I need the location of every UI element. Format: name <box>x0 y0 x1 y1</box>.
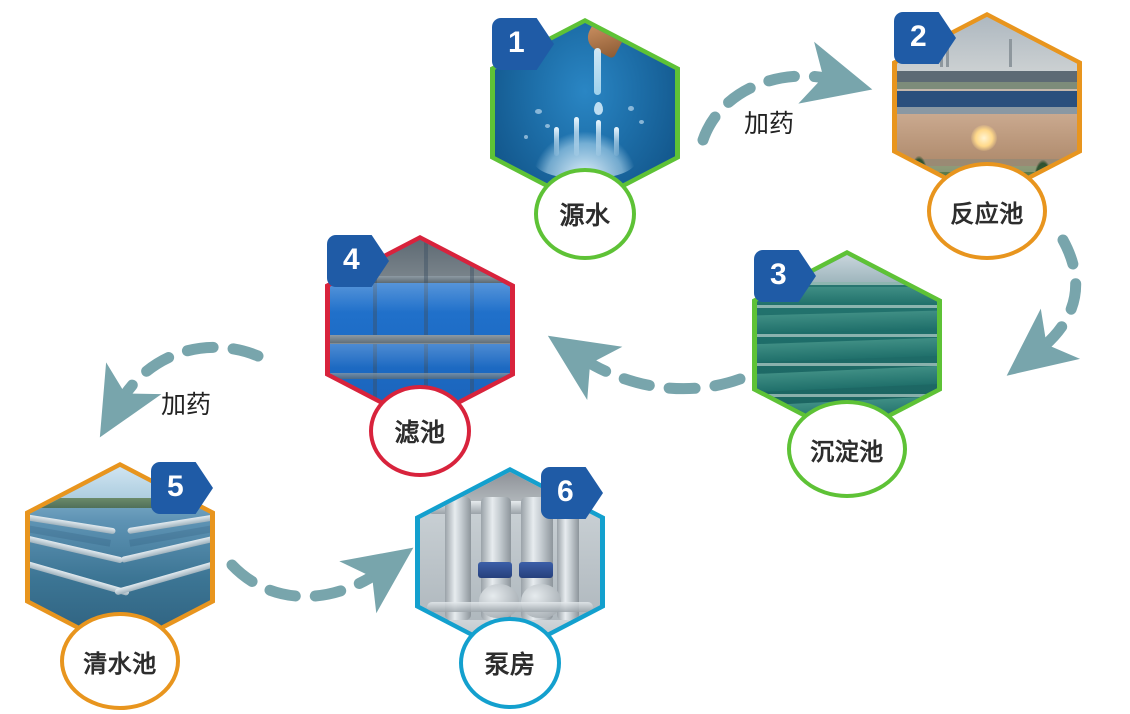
step-5-label: 清水池 <box>83 644 157 679</box>
step-node-3[interactable]: 3 沉淀池 <box>752 250 942 480</box>
step-3-caption-circle: 沉淀池 <box>787 400 907 498</box>
step-1-caption-circle: 源水 <box>534 168 636 260</box>
step-node-5[interactable]: 5 清水池 <box>25 462 215 692</box>
step-2-caption-circle: 反应池 <box>927 162 1047 260</box>
process-flow-diagram: 加药 加药 <box>0 0 1130 714</box>
connector-label-dosing-1: 加药 <box>744 104 794 140</box>
step-node-4[interactable]: 4 滤池 <box>325 235 515 465</box>
step-node-1[interactable]: 1 源水 <box>490 18 680 248</box>
step-5-caption-circle: 清水池 <box>60 612 180 710</box>
step-1-label: 源水 <box>559 196 610 232</box>
step-3-label: 沉淀池 <box>810 432 884 467</box>
step-4-label: 滤池 <box>394 413 445 449</box>
step-4-caption-circle: 滤池 <box>369 385 471 477</box>
connector-3-to-4 <box>580 357 740 389</box>
step-6-caption-circle: 泵房 <box>459 617 561 709</box>
connector-label-dosing-2: 加药 <box>161 385 211 421</box>
step-node-2[interactable]: 2 反应池 <box>892 12 1082 242</box>
connector-2-to-3 <box>1037 240 1076 352</box>
step-node-6[interactable]: 6 泵房 <box>415 467 605 697</box>
connector-5-to-6 <box>232 565 382 596</box>
step-6-label: 泵房 <box>484 645 535 681</box>
step-2-label: 反应池 <box>950 194 1024 229</box>
